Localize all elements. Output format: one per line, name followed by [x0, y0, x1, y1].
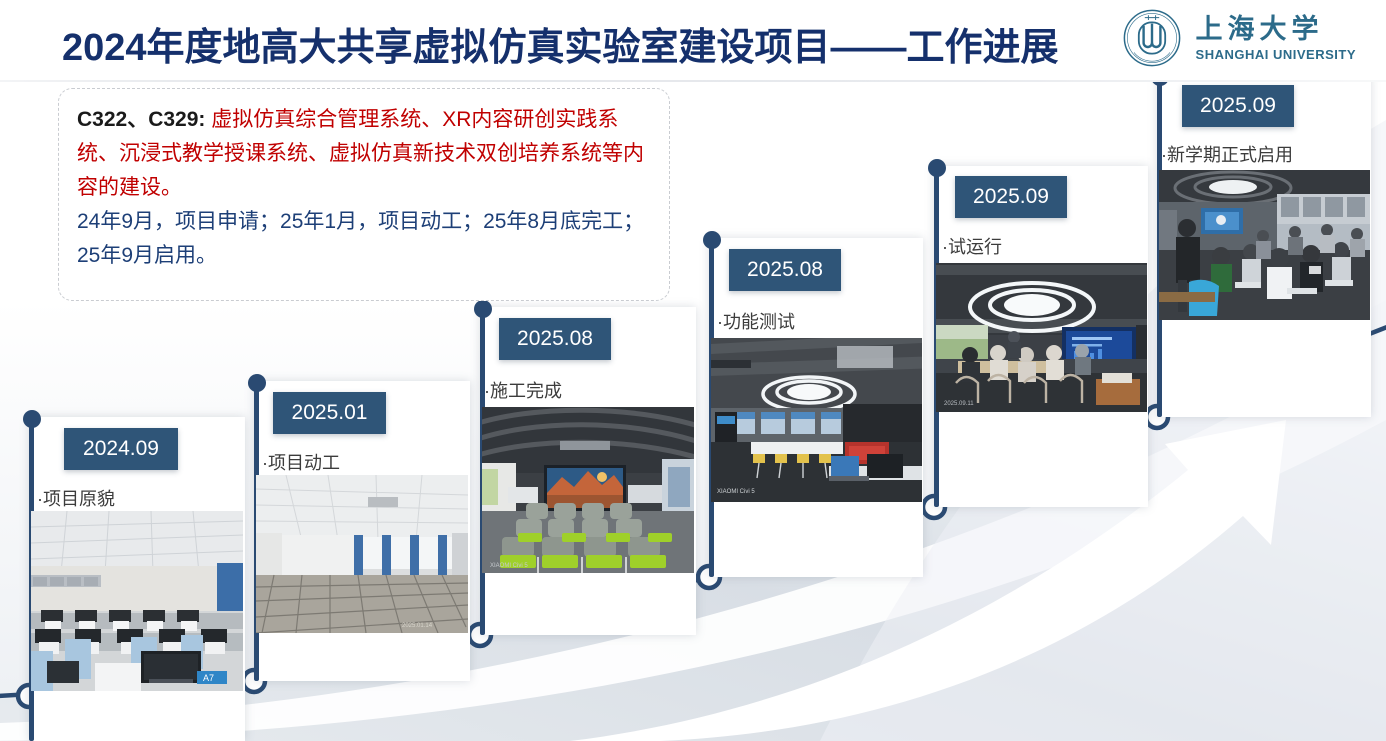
note-lead: C322、C329:	[77, 108, 205, 131]
milestone-date-badge-2: 2025.01	[273, 392, 386, 434]
milestone-date-badge-3: 2025.08	[499, 318, 611, 360]
milestone-card-5[interactable]: 2025.09 ·试运行	[934, 166, 1148, 507]
slide-header: 2024年度地高大共享虚拟仿真实验室建设项目——工作进展 上海大学 SHANGH…	[0, 0, 1386, 82]
logo-name-en: SHANGHAI UNIVERSITY	[1196, 48, 1356, 61]
logo-name-cn: 上海大学	[1196, 16, 1356, 43]
milestone-caption-4: ·功能测试	[717, 308, 795, 334]
milestone-photo-4: XIAOMI Civi 5	[711, 338, 922, 502]
svg-text:2025.09.11: 2025.09.11	[944, 401, 974, 407]
milestone-photo-5: 2025.09.11	[936, 263, 1147, 412]
milestone-card-1[interactable]: 2024.09 ·项目原貌	[29, 417, 245, 741]
stem-dot-icon	[703, 231, 721, 249]
milestone-caption-2: ·项目动工	[262, 449, 340, 475]
milestone-caption-6: ·新学期正式启用	[1161, 141, 1293, 167]
milestone-card-6[interactable]: 2025.09 ·新学期正式启用	[1157, 75, 1371, 417]
shanghai-university-seal-icon	[1122, 8, 1182, 68]
page-title: 2024年度地高大共享虚拟仿真实验室建设项目——工作进展	[62, 16, 1059, 71]
project-note-box: C322、C329: 虚拟仿真综合管理系统、XR内容研创实践系统、沉浸式教学授课…	[58, 88, 670, 301]
note-schedule: 24年9月，项目申请；25年1月，项目动工；25年8月底完工；25年9月启用。	[77, 205, 651, 273]
milestone-photo-1: A7	[31, 511, 243, 691]
stem-dot-icon	[23, 410, 41, 428]
milestone-card-2[interactable]: 2025.01 ·项目动工	[254, 381, 470, 681]
header-divider	[0, 80, 1386, 82]
milestone-photo-3: XIAOMI Civi 5	[482, 407, 694, 573]
milestone-caption-1: ·项目原貌	[37, 485, 115, 511]
milestone-date-badge-1: 2024.09	[64, 428, 178, 470]
slide-canvas: 2024.09 ·项目原貌	[0, 0, 1386, 741]
milestone-photo-6	[1159, 170, 1370, 320]
svg-text:2025.01.14: 2025.01.14	[402, 623, 433, 629]
milestone-caption-3: ·施工完成	[484, 377, 562, 403]
milestone-date-badge-5: 2025.09	[955, 176, 1067, 218]
svg-text:XIAOMI Civi 5: XIAOMI Civi 5	[490, 563, 528, 569]
university-logo: 上海大学 SHANGHAI UNIVERSITY	[1122, 8, 1356, 68]
logo-text-block: 上海大学 SHANGHAI UNIVERSITY	[1196, 16, 1356, 61]
milestone-card-3[interactable]: 2025.08 ·施工完成	[480, 307, 696, 635]
stem-dot-icon	[928, 159, 946, 177]
note-paragraph: C322、C329: 虚拟仿真综合管理系统、XR内容研创实践系统、沉浸式教学授课…	[77, 103, 651, 205]
stem-dot-icon	[474, 300, 492, 318]
milestone-caption-5: ·试运行	[942, 233, 1002, 259]
stem-dot-icon	[248, 374, 266, 392]
milestone-photo-2: 2025.01.14	[256, 475, 468, 633]
svg-text:A7: A7	[203, 673, 214, 683]
milestone-card-4[interactable]: 2025.08 ·功能测试	[709, 238, 923, 577]
svg-text:XIAOMI Civi 5: XIAOMI Civi 5	[717, 489, 755, 495]
milestone-date-badge-6: 2025.09	[1182, 85, 1294, 127]
milestone-date-badge-4: 2025.08	[729, 249, 841, 291]
